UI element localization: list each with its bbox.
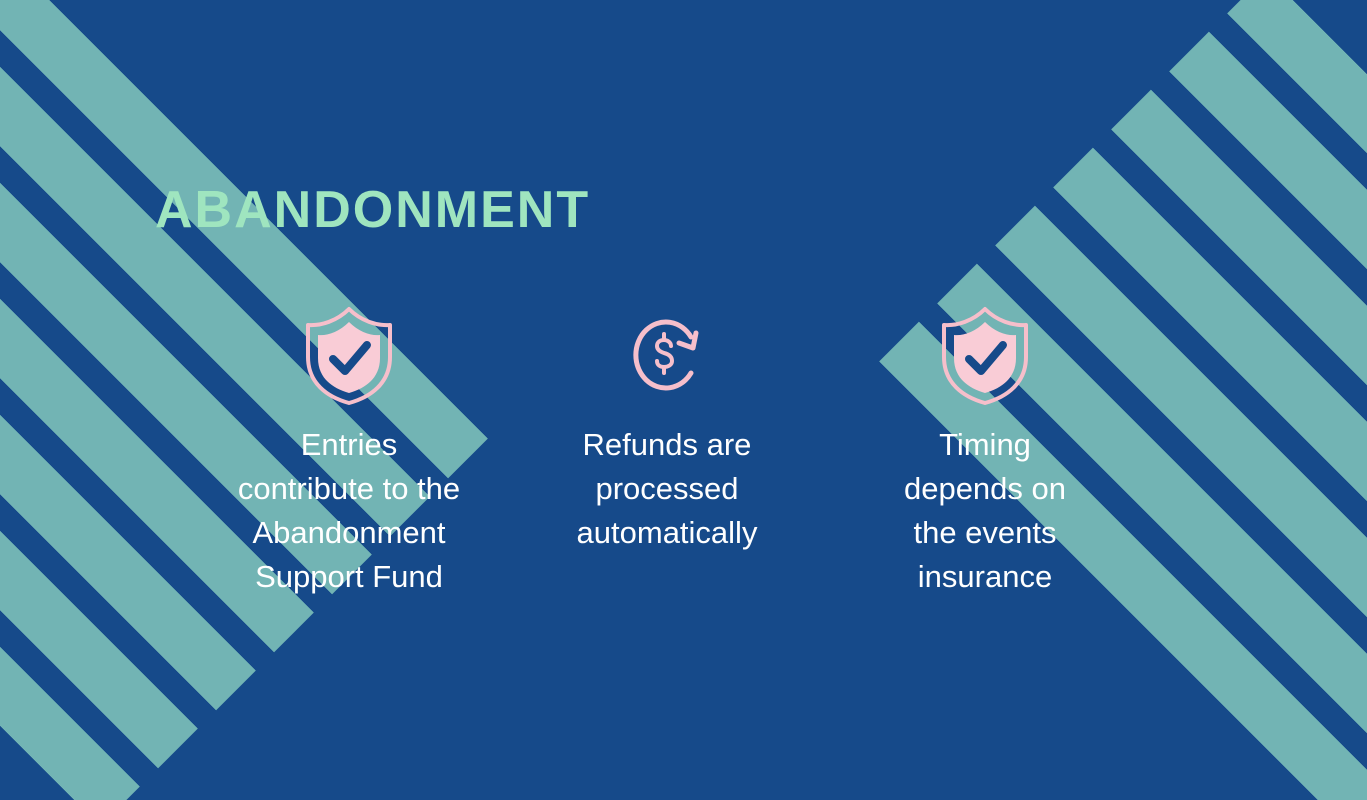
feature-text-2: Refunds are processed automatically — [542, 423, 792, 555]
refund-dollar-icon — [621, 305, 713, 405]
feature-text-1: Entries contribute to the Abandonment Su… — [231, 423, 467, 599]
feature-column-3: Timing depends on the events insurance — [826, 305, 1144, 599]
shield-check-icon — [939, 305, 1031, 405]
slide: ABANDONMENT Entries contribute to the Ab… — [0, 0, 1367, 800]
page-title: ABANDONMENT — [155, 182, 590, 239]
feature-column-2: Refunds are processed automatically — [508, 305, 826, 555]
feature-columns: Entries contribute to the Abandonment Su… — [190, 305, 1200, 599]
feature-text-3: Timing depends on the events insurance — [880, 423, 1090, 599]
shield-check-icon — [303, 305, 395, 405]
feature-column-1: Entries contribute to the Abandonment Su… — [190, 305, 508, 599]
